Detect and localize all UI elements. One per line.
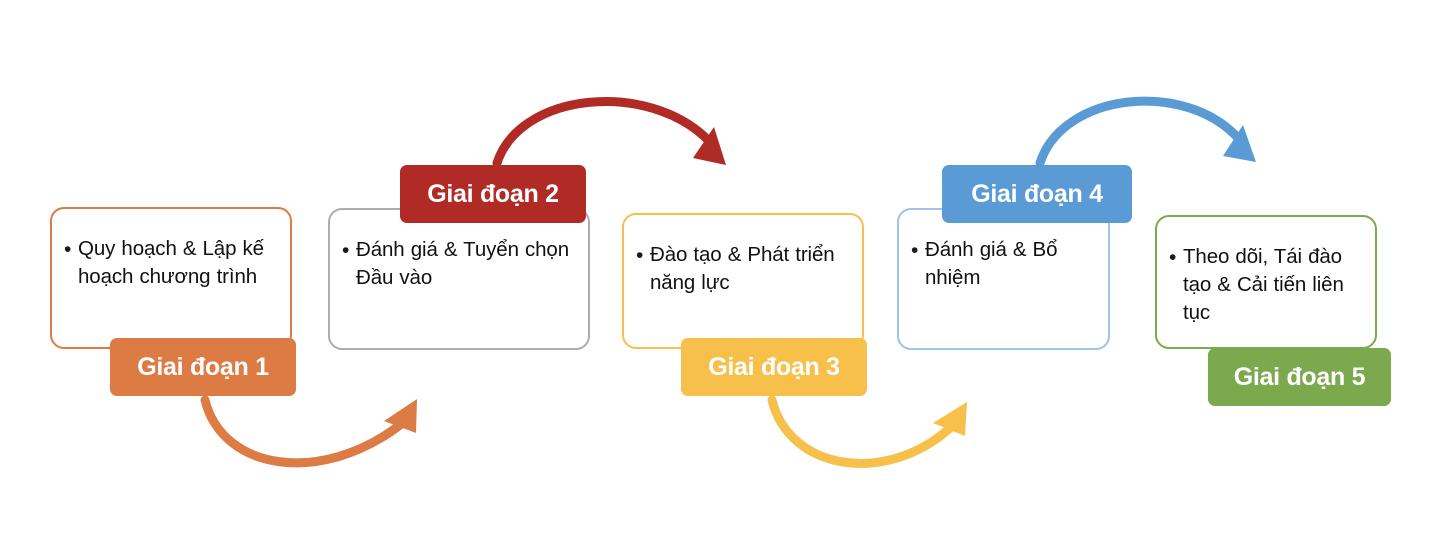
stage-3-label: Giai đoạn 3 bbox=[708, 353, 839, 382]
stage-5-label-tab[interactable]: Giai đoạn 5 bbox=[1208, 348, 1391, 406]
arrow-stage2-to-stage3-head bbox=[693, 127, 726, 165]
arrow-stage1-to-stage2 bbox=[205, 399, 417, 463]
stage-2-text: Đánh giá & Tuyển chọn Đầu vào bbox=[356, 236, 578, 292]
stage-4-label-tab[interactable]: Giai đoạn 4 bbox=[942, 165, 1132, 223]
stage-1-bullet: • bbox=[64, 235, 78, 265]
stage-3-label-tab[interactable]: Giai đoạn 3 bbox=[681, 338, 867, 396]
stage-4-bullet: • bbox=[911, 236, 925, 266]
arrow-stage3-to-stage4-path bbox=[772, 400, 950, 463]
stage-1-label-tab[interactable]: Giai đoạn 1 bbox=[110, 338, 296, 396]
arrow-stage3-to-stage4-head bbox=[933, 402, 967, 436]
arrow-stage4-to-stage5-path bbox=[1040, 101, 1238, 163]
stage-2-label: Giai đoạn 2 bbox=[427, 180, 558, 209]
stage-2-card: • Đánh giá & Tuyển chọn Đầu vào bbox=[328, 208, 590, 350]
arrow-stage3-to-stage4 bbox=[772, 400, 967, 463]
stage-2-card-body: • Đánh giá & Tuyển chọn Đầu vào bbox=[342, 236, 578, 292]
stage-5-text: Theo dõi, Tái đào tạo & Cải tiến liên tụ… bbox=[1183, 243, 1365, 327]
process-flow-diagram: • Quy hoạch & Lập kế hoạch chương trình … bbox=[0, 0, 1436, 543]
stage-5-card-body: • Theo dõi, Tái đào tạo & Cải tiến liên … bbox=[1169, 243, 1365, 327]
stage-5-card: • Theo dõi, Tái đào tạo & Cải tiến liên … bbox=[1155, 215, 1377, 349]
arrow-stage2-to-stage3-path bbox=[497, 102, 708, 163]
stage-3-bullet: • bbox=[636, 241, 650, 271]
stage-1-text: Quy hoạch & Lập kế hoạch chương trình bbox=[78, 235, 280, 291]
stage-5-bullet: • bbox=[1169, 243, 1183, 273]
stage-4-card-body: • Đánh giá & Bổ nhiệm bbox=[911, 236, 1098, 292]
arrow-stage4-to-stage5 bbox=[1040, 101, 1256, 163]
stage-2-label-tab[interactable]: Giai đoạn 2 bbox=[400, 165, 586, 223]
stage-1-card: • Quy hoạch & Lập kế hoạch chương trình bbox=[50, 207, 292, 349]
stage-5-label: Giai đoạn 5 bbox=[1234, 363, 1365, 392]
stage-3-card-body: • Đào tạo & Phát triển năng lực bbox=[636, 241, 852, 297]
arrow-stage2-to-stage3 bbox=[497, 102, 726, 165]
stage-2-bullet: • bbox=[342, 236, 356, 266]
stage-1-label: Giai đoạn 1 bbox=[137, 353, 268, 382]
stage-4-card: • Đánh giá & Bổ nhiệm bbox=[897, 208, 1110, 350]
arrow-stage4-to-stage5-head bbox=[1223, 125, 1256, 162]
stage-4-label: Giai đoạn 4 bbox=[971, 180, 1102, 209]
stage-3-text: Đào tạo & Phát triển năng lực bbox=[650, 241, 852, 297]
stage-4-text: Đánh giá & Bổ nhiệm bbox=[925, 236, 1098, 292]
arrow-stage1-to-stage2-path bbox=[205, 400, 400, 463]
stage-1-card-body: • Quy hoạch & Lập kế hoạch chương trình bbox=[64, 235, 280, 291]
stage-3-card: • Đào tạo & Phát triển năng lực bbox=[622, 213, 864, 349]
arrow-stage1-to-stage2-head bbox=[384, 399, 417, 433]
